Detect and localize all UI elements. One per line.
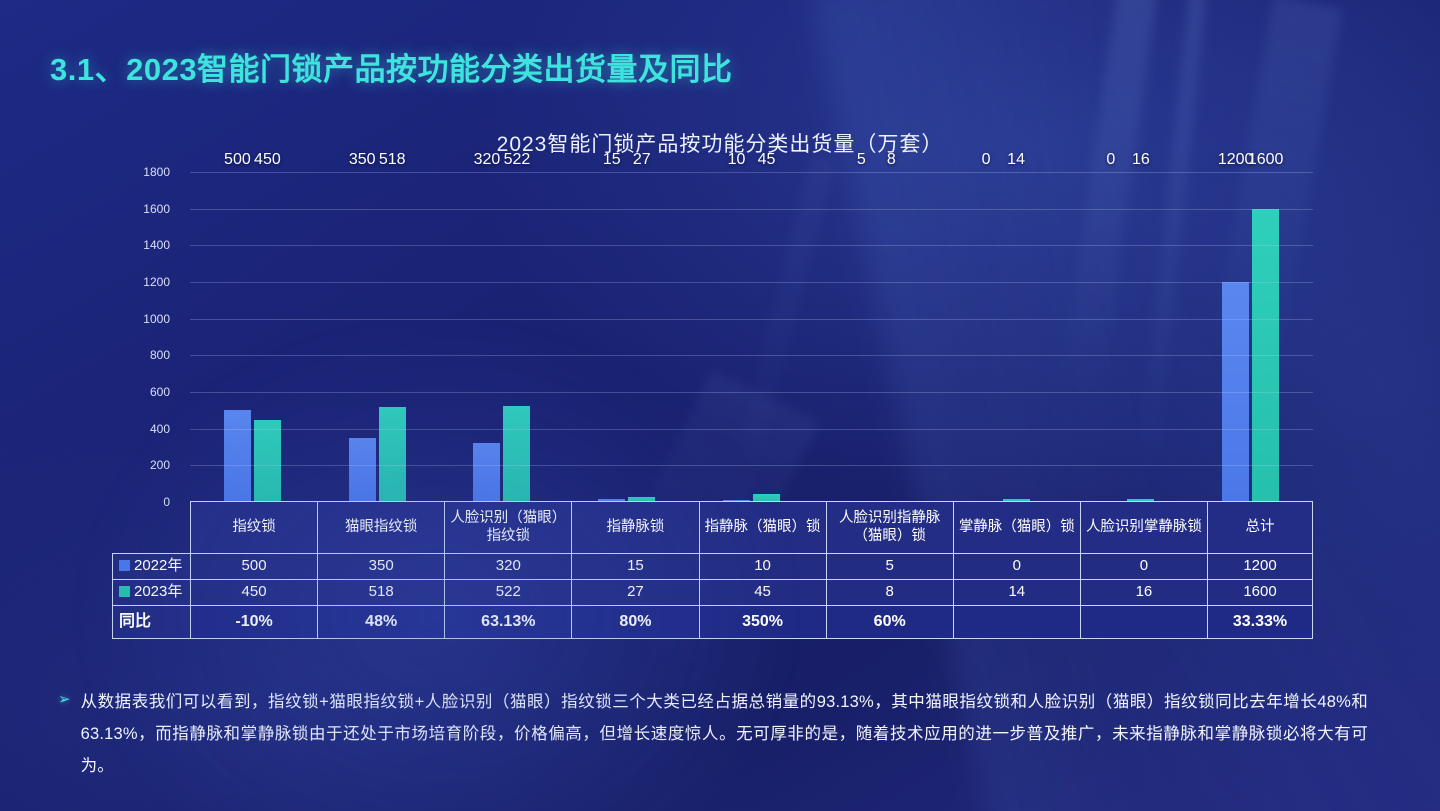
table-cell: 8: [826, 580, 953, 606]
bar-groups: 5004503505183205221527104558014016120016…: [190, 172, 1313, 502]
bar-value-label: 27: [633, 151, 651, 169]
bar-value-label: 522: [504, 151, 531, 169]
yoy-cell: 48%: [318, 606, 445, 639]
bar-column: 1200: [1222, 172, 1249, 502]
y-axis: 180016001400120010008006004002000: [112, 172, 178, 502]
bar-value-label: 15: [603, 151, 621, 169]
bar-column: 45: [753, 172, 780, 502]
bar-group: 320522: [440, 172, 565, 502]
bar[interactable]: 350: [349, 438, 376, 502]
table-col-header: 猫眼指纹锁: [318, 502, 445, 554]
bar-pair: 500450: [190, 172, 315, 502]
table-cell: 27: [572, 580, 699, 606]
legend-item-2022年[interactable]: 2022年: [113, 554, 191, 580]
bar-group: 1045: [689, 172, 814, 502]
bar-column: 500: [224, 172, 251, 502]
bar-value-label: 16: [1132, 151, 1150, 169]
bar-group: 1527: [564, 172, 689, 502]
footnote: ➢ 从数据表我们可以看到，指纹锁+猫眼指纹锁+人脸识别（猫眼）指纹锁三个大类已经…: [58, 686, 1368, 783]
chart-gridline: [190, 319, 1313, 320]
table-col-header: 人脸识别指静脉（猫眼）锁: [826, 502, 953, 554]
bar[interactable]: 500: [224, 410, 251, 502]
table-cell: 16: [1080, 580, 1207, 606]
bar-pair: 58: [814, 172, 939, 502]
bar-group: 58: [814, 172, 939, 502]
bar-pair: 1045: [689, 172, 814, 502]
bar-column: 5: [848, 172, 875, 502]
table-cell: 10: [699, 554, 826, 580]
yoy-cell: 33.33%: [1208, 606, 1313, 639]
bar-value-label: 10: [728, 151, 746, 169]
bar-pair: 016: [1063, 172, 1188, 502]
page-title: 3.1、2023智能门锁产品按功能分类出货量及同比: [50, 44, 733, 89]
bar-column: 15: [598, 172, 625, 502]
table-cell: 350: [318, 554, 445, 580]
table-cell: 0: [953, 554, 1080, 580]
table-col-header: 人脸识别（猫眼）指纹锁: [445, 502, 572, 554]
data-table: 指纹锁猫眼指纹锁人脸识别（猫眼）指纹锁指静脉锁指静脉（猫眼）锁人脸识别指静脉（猫…: [112, 501, 1313, 639]
y-axis-tick: 1600: [143, 202, 170, 216]
bar-value-label: 5: [857, 151, 866, 169]
table-cell: 518: [318, 580, 445, 606]
table-col-header: 掌静脉（猫眼）锁: [953, 502, 1080, 554]
yoy-cell: 60%: [826, 606, 953, 639]
bar-group: 016: [1063, 172, 1188, 502]
yoy-row-label: 同比: [113, 606, 191, 639]
table-cell: 45: [699, 580, 826, 606]
bar-pair: 1527: [564, 172, 689, 502]
y-axis-tick: 400: [150, 422, 170, 436]
bar-value-label: 0: [982, 151, 991, 169]
bar[interactable]: 320: [473, 443, 500, 502]
table-cell: 14: [953, 580, 1080, 606]
bar-value-label: 450: [254, 151, 281, 169]
bar-group: 350518: [315, 172, 440, 502]
yoy-cell: [1080, 606, 1207, 639]
bar-pair: 12001600: [1188, 172, 1313, 502]
table-cell: 15: [572, 554, 699, 580]
table-col-header: 人脸识别掌静脉锁: [1080, 502, 1207, 554]
table-col-header: 总计: [1208, 502, 1313, 554]
table-body: 2022年500350320151050012002023年4505185222…: [113, 554, 1313, 639]
bar-group: 014: [939, 172, 1064, 502]
y-axis-tick: 1000: [143, 312, 170, 326]
bar[interactable]: 518: [379, 407, 406, 502]
bar-column: 450: [254, 172, 281, 502]
yoy-cell: 80%: [572, 606, 699, 639]
bar-column: 1600: [1252, 172, 1279, 502]
bar[interactable]: 522: [503, 406, 530, 502]
bar-group: 12001600: [1188, 172, 1313, 502]
chart-gridline: [190, 465, 1313, 466]
table-corner-cell: [113, 502, 191, 554]
table-cell: 0: [1080, 554, 1207, 580]
yoy-cell: 350%: [699, 606, 826, 639]
table-cell: 1200: [1208, 554, 1313, 580]
chart-gridline: [190, 392, 1313, 393]
bar-column: 0: [973, 172, 1000, 502]
legend-swatch-icon: [119, 560, 130, 571]
bar-group: 500450: [190, 172, 315, 502]
legend-swatch-icon: [119, 586, 130, 597]
table-col-header: 指静脉（猫眼）锁: [699, 502, 826, 554]
table-row-yoy: 同比-10%48%63.13%80%350%60%33.33%: [113, 606, 1313, 639]
plot-area: 5004503505183205221527104558014016120016…: [190, 172, 1313, 502]
table-col-header: 指静脉锁: [572, 502, 699, 554]
chart-gridline: [190, 172, 1313, 173]
y-axis-tick: 200: [150, 458, 170, 472]
table-row: 2022年50035032015105001200: [113, 554, 1313, 580]
y-axis-tick: 1200: [143, 275, 170, 289]
chart-gridline: [190, 355, 1313, 356]
bar-value-label: 500: [224, 151, 251, 169]
chart-gridline: [190, 245, 1313, 246]
bar-column: 320: [473, 172, 500, 502]
chart-gridline: [190, 209, 1313, 210]
bar-column: 522: [503, 172, 530, 502]
bar-value-label: 1600: [1248, 151, 1284, 169]
bar-column: 10: [723, 172, 750, 502]
bar-value-label: 518: [379, 151, 406, 169]
bar-column: 27: [628, 172, 655, 502]
table-col-header: 指纹锁: [191, 502, 318, 554]
bar-value-label: 350: [349, 151, 376, 169]
chart-gridline: [190, 282, 1313, 283]
bar-column: 14: [1003, 172, 1030, 502]
table-cell: 522: [445, 580, 572, 606]
bar-pair: 320522: [440, 172, 565, 502]
table-cell: 500: [191, 554, 318, 580]
arrow-bullet-icon: ➢: [58, 692, 71, 783]
y-axis-tick: 800: [150, 348, 170, 362]
y-axis-tick: 1400: [143, 238, 170, 252]
bar-value-label: 8: [887, 151, 896, 169]
bar-column: 0: [1097, 172, 1124, 502]
table-header-row: 指纹锁猫眼指纹锁人脸识别（猫眼）指纹锁指静脉锁指静脉（猫眼）锁人脸识别指静脉（猫…: [113, 502, 1313, 554]
table-header: 指纹锁猫眼指纹锁人脸识别（猫眼）指纹锁指静脉锁指静脉（猫眼）锁人脸识别指静脉（猫…: [113, 502, 1313, 554]
bar-pair: 350518: [315, 172, 440, 502]
bar-pair: 014: [939, 172, 1064, 502]
bar-value-label: 0: [1106, 151, 1115, 169]
table-cell: 320: [445, 554, 572, 580]
table-cell: 1600: [1208, 580, 1313, 606]
table-cell: 5: [826, 554, 953, 580]
slide-canvas: 3.1、2023智能门锁产品按功能分类出货量及同比 2023智能门锁产品按功能分…: [0, 0, 1440, 811]
bar-column: 518: [379, 172, 406, 502]
y-axis-tick: 600: [150, 385, 170, 399]
yoy-cell: [953, 606, 1080, 639]
bar-chart: 180016001400120010008006004002000 500450…: [112, 172, 1313, 502]
bar-value-label: 320: [474, 151, 501, 169]
footnote-text: 从数据表我们可以看到，指纹锁+猫眼指纹锁+人脸识别（猫眼）指纹锁三个大类已经占据…: [81, 686, 1368, 783]
table-cell: 450: [191, 580, 318, 606]
bar[interactable]: 450: [254, 420, 281, 503]
bar-value-label: 14: [1007, 151, 1025, 169]
bar-column: 350: [349, 172, 376, 502]
yoy-cell: -10%: [191, 606, 318, 639]
bar-column: 16: [1127, 172, 1154, 502]
bar-value-label: 45: [758, 151, 776, 169]
legend-item-2023年[interactable]: 2023年: [113, 580, 191, 606]
y-axis-tick: 1800: [143, 165, 170, 179]
bar-column: 8: [878, 172, 905, 502]
yoy-cell: 63.13%: [445, 606, 572, 639]
table-row: 2023年4505185222745814161600: [113, 580, 1313, 606]
chart-gridline: [190, 429, 1313, 430]
